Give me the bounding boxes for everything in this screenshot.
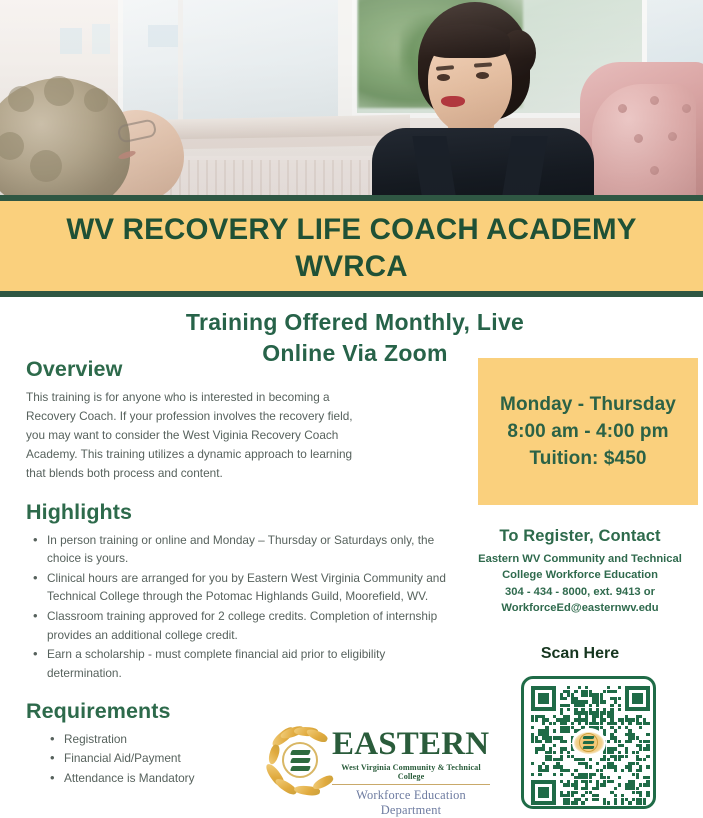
seal-icon — [282, 742, 318, 778]
list-item: Classroom training approved for 2 colleg… — [26, 607, 446, 644]
highlights-list: In person training or online and Monday … — [26, 531, 446, 683]
schedule-box: Monday - Thursday 8:00 am - 4:00 pm Tuit… — [478, 358, 698, 505]
header-photo — [0, 0, 703, 197]
contact-heading: To Register, Contact — [460, 527, 700, 546]
overview-text: This training is for anyone who is inter… — [26, 388, 358, 484]
left-column: Overview This training is for anyone who… — [26, 357, 446, 788]
overview-section: Overview This training is for anyone who… — [26, 357, 446, 484]
contact-phone: 304 - 434 - 8000, ext. 9413 or — [460, 584, 700, 600]
page-title-line1: WV RECOVERY LIFE COACH ACADEMY — [66, 212, 636, 249]
contact-org-line1: Eastern WV Community and Technical — [460, 551, 700, 567]
logo-subtitle: West Virginia Community & Technical Coll… — [332, 763, 490, 785]
qr-code[interactable] — [521, 676, 656, 809]
banner-rule-bottom — [0, 291, 703, 297]
scan-here-heading: Scan Here — [460, 645, 700, 663]
schedule-hours: 8:00 am - 4:00 pm — [507, 418, 668, 445]
overview-heading: Overview — [26, 357, 446, 382]
qr-canvas — [531, 686, 646, 799]
list-item: Earn a scholarship - must complete finan… — [26, 645, 446, 682]
schedule-tuition: Tuition: $450 — [529, 445, 646, 472]
highlights-section: Highlights In person training or online … — [26, 500, 446, 683]
photo-vignette — [0, 0, 703, 197]
title-banner: WV RECOVERY LIFE COACH ACADEMY WVRCA — [0, 201, 703, 296]
logo-name: EASTERN — [332, 728, 490, 761]
qr-center-logo-icon — [572, 728, 606, 758]
eastern-logo: EASTERN West Virginia Community & Techni… — [268, 728, 490, 806]
contact-email[interactable]: WorkforceEd@easternwv.edu — [460, 600, 700, 616]
requirements-heading: Requirements — [26, 699, 446, 724]
list-item: Clinical hours are arranged for you by E… — [26, 569, 446, 606]
highlights-heading: Highlights — [26, 500, 446, 525]
contact-org-line2: College Workforce Education — [460, 567, 700, 583]
schedule-days: Monday - Thursday — [500, 391, 676, 418]
list-item: In person training or online and Monday … — [26, 531, 446, 568]
subtitle-line1: Training Offered Monthly, Live — [120, 307, 590, 338]
contact-section: To Register, Contact Eastern WV Communit… — [460, 527, 700, 616]
logo-text-block: EASTERN West Virginia Community & Techni… — [332, 728, 490, 818]
page-title-line2: WVRCA — [295, 249, 407, 286]
